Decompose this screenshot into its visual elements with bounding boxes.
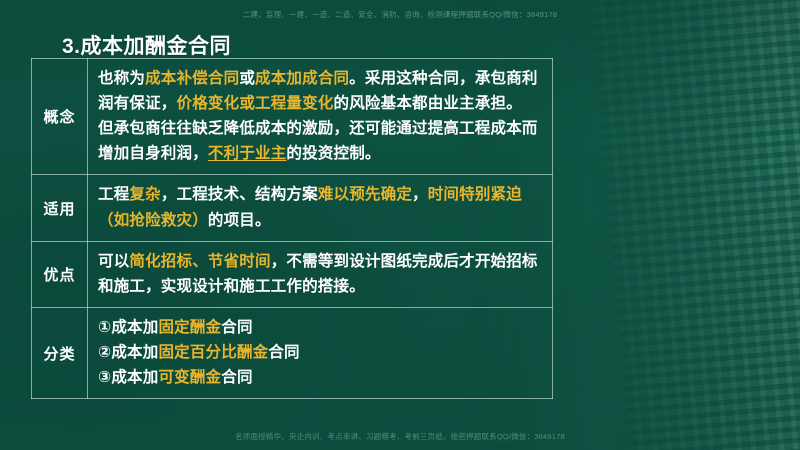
body-text: 合同 [221, 369, 252, 386]
highlighted-text: 固定百分比酬金 [158, 344, 268, 361]
content-paragraph: 可以简化招标、节省时间，不需等到设计图纸完成后才开始招标和施工，实现设计和施工工… [98, 249, 546, 299]
table-row: 分类①成本加固定酬金合同②成本加固定百分比酬金合同③成本加可变酬金合同 [32, 307, 553, 398]
highlighted-text: 固定酬金 [158, 319, 221, 336]
body-text: 也称为 [98, 70, 145, 87]
content-paragraph: 工程复杂，工程技术、结构方案难以预先确定，时间特别紧迫（如抢险救灾）的项目。 [98, 182, 546, 232]
body-text: 的投资控制。 [286, 145, 380, 162]
highlighted-text: 可变酬金 [158, 369, 221, 386]
body-text: 合同 [221, 319, 252, 336]
highlighted-text: 成本加成合同 [255, 70, 349, 87]
watermark-bottom: 名师面授精华、央企内训、考点串讲、习题模考、考前三页纸、绝密押题联系QQ/微信：… [0, 431, 800, 442]
row-label-cell: 分类 [32, 307, 88, 398]
slide-root: 二建、监理、一建、一造、二造、安全、消防、咨询、检测课程押题联系QQ/微信：38… [0, 0, 800, 450]
body-text: 工程 [98, 186, 129, 203]
body-text: ， [412, 186, 428, 203]
body-text: 可以 [98, 253, 129, 270]
row-content-cell: 可以简化招标、节省时间，不需等到设计图纸完成后才开始招标和施工，实现设计和施工工… [88, 241, 553, 307]
row-content-cell: ①成本加固定酬金合同②成本加固定百分比酬金合同③成本加可变酬金合同 [88, 307, 553, 398]
row-label-cell: 适用 [32, 175, 88, 241]
body-text: ②成本加 [98, 344, 158, 361]
body-text: 或 [239, 70, 255, 87]
content-paragraph: ③成本加可变酬金合同 [98, 365, 546, 390]
content-paragraph: 也称为成本补偿合同或成本加成合同。采用这种合同，承包商利润有保证，价格变化或工程… [98, 66, 546, 116]
highlighted-text: 价格变化或工程量变化 [177, 95, 334, 112]
table-row: 优点可以简化招标、节省时间，不需等到设计图纸完成后才开始招标和施工，实现设计和施… [32, 241, 553, 307]
highlighted-text: 难以预先确定 [318, 186, 412, 203]
highlighted-text: 成本补偿合同 [145, 70, 239, 87]
highlighted-text: 简化招标、节省时间 [129, 253, 270, 270]
content-paragraph: 但承包商往往缺乏降低成本的激励，还可能通过提高工程成本而增加自身利润，不利于业主… [98, 116, 546, 166]
row-label-cell: 优点 [32, 241, 88, 307]
body-text: 的风险基本都由业主承担。 [334, 95, 522, 112]
content-table: 概念也称为成本补偿合同或成本加成合同。采用这种合同，承包商利润有保证，价格变化或… [31, 58, 553, 399]
body-text: 的项目。 [208, 212, 271, 229]
highlighted-text: 不利于业主 [208, 145, 287, 162]
row-label-cell: 概念 [32, 59, 88, 175]
body-text: ①成本加 [98, 319, 158, 336]
table-row: 概念也称为成本补偿合同或成本加成合同。采用这种合同，承包商利润有保证，价格变化或… [32, 59, 553, 175]
table-body: 概念也称为成本补偿合同或成本加成合同。采用这种合同，承包商利润有保证，价格变化或… [32, 59, 553, 399]
watermark-top: 二建、监理、一建、一造、二造、安全、消防、咨询、检测课程押题联系QQ/微信：38… [0, 9, 800, 20]
body-text: 合同 [268, 344, 299, 361]
table-row: 适用工程复杂，工程技术、结构方案难以预先确定，时间特别紧迫（如抢险救灾）的项目。 [32, 175, 553, 241]
row-content-cell: 也称为成本补偿合同或成本加成合同。采用这种合同，承包商利润有保证，价格变化或工程… [88, 59, 553, 175]
row-content-cell: 工程复杂，工程技术、结构方案难以预先确定，时间特别紧迫（如抢险救灾）的项目。 [88, 175, 553, 241]
content-paragraph: ①成本加固定酬金合同 [98, 315, 546, 340]
body-text: ③成本加 [98, 369, 158, 386]
page-title: 3.成本加酬金合同 [62, 30, 231, 60]
highlighted-text: 复杂 [129, 186, 160, 203]
body-text: ，工程技术、结构方案 [161, 186, 318, 203]
content-paragraph: ②成本加固定百分比酬金合同 [98, 340, 546, 365]
